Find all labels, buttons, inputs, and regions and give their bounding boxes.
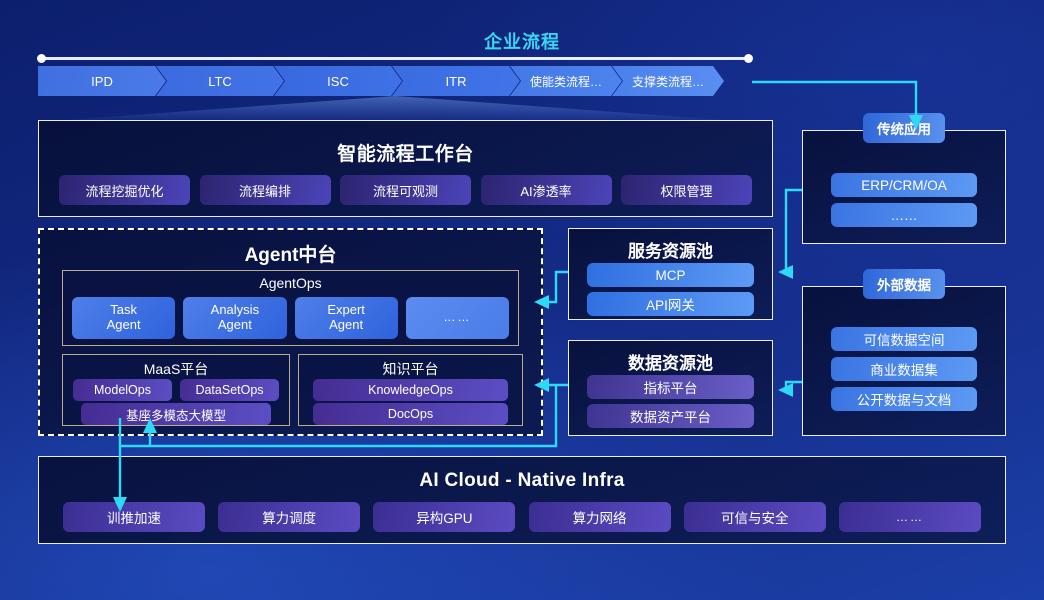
process-step-isc[interactable]: ISC (274, 66, 402, 96)
service-pool-item-api-gateway[interactable]: API网关 (587, 292, 754, 316)
agent-card-expert-line1: Expert (327, 302, 365, 317)
agentops-box: AgentOps TaskAgent AnalysisAgent ExpertA… (62, 270, 519, 346)
knowledge-platform-box: 知识平台 KnowledgeOps DocOps (298, 354, 523, 426)
maas-row-2: 基座多模态大模型 (81, 403, 271, 425)
process-step-enablement[interactable]: 使能类流程… (510, 66, 622, 96)
infra-title: AI Cloud - Native Infra (39, 470, 1005, 492)
external-data-tab: 外部数据 (863, 269, 945, 299)
knowledge-row-2: DocOps (313, 403, 508, 425)
external-data-item-commercial-dataset[interactable]: 商业数据集 (831, 357, 977, 381)
data-resource-pool-title: 数据资源池 (569, 349, 772, 374)
knowledge-platform-title: 知识平台 (299, 359, 522, 379)
agent-card-analysis-line2: Agent (218, 317, 252, 332)
rail-dot-right (744, 54, 753, 63)
workbench-item-process-mining[interactable]: 流程挖掘优化 (59, 175, 190, 205)
decorative-light-fan (38, 96, 752, 122)
data-pool-item-metrics-platform[interactable]: 指标平台 (587, 375, 754, 399)
connector-external-data-to-data-pool (786, 382, 802, 390)
infra-item-row: 训推加速 算力调度 异构GPU 算力网络 可信与安全 …… (63, 502, 981, 532)
agent-hub-title: Agent中台 (40, 240, 541, 267)
maas-item-datasetops[interactable]: DataSetOps (180, 379, 279, 401)
infra-item-trust-security[interactable]: 可信与安全 (684, 502, 826, 532)
agent-card-more[interactable]: …… (406, 297, 509, 339)
process-rail (38, 57, 752, 60)
agent-card-expert-line2: Agent (329, 317, 363, 332)
external-data-item-public-docs[interactable]: 公开数据与文档 (831, 387, 977, 411)
maas-platform-box: MaaS平台 ModelOps DataSetOps 基座多模态大模型 (62, 354, 290, 426)
connector-service-pool-to-agent-hub (548, 272, 568, 302)
agent-card-expert[interactable]: ExpertAgent (295, 297, 398, 339)
traditional-application-tab: 传统应用 (863, 113, 945, 143)
ai-cloud-native-infra-panel: AI Cloud - Native Infra 训推加速 算力调度 异构GPU … (38, 456, 1006, 544)
rail-dot-left (37, 54, 46, 63)
service-resource-pool-title: 服务资源池 (569, 237, 772, 262)
workbench-title: 智能流程工作台 (39, 139, 772, 166)
process-chevron-bar: IPD LTC ISC ITR 使能类流程… 支撑类流程… (38, 66, 724, 96)
infra-item-more[interactable]: …… (839, 502, 981, 532)
data-resource-pool-panel: 数据资源池 指标平台 数据资产平台 (568, 340, 773, 436)
agent-card-task-line2: Agent (107, 317, 141, 332)
agent-card-task[interactable]: TaskAgent (72, 297, 175, 339)
workbench-item-row: 流程挖掘优化 流程编排 流程可观测 AI渗透率 权限管理 (59, 175, 752, 205)
infra-item-compute-network[interactable]: 算力网络 (529, 502, 671, 532)
infra-item-compute-scheduling[interactable]: 算力调度 (218, 502, 360, 532)
agentops-card-row: TaskAgent AnalysisAgent ExpertAgent …… (72, 297, 509, 339)
process-step-ltc[interactable]: LTC (156, 66, 284, 96)
traditional-app-item-more[interactable]: …… (831, 203, 977, 227)
architecture-diagram: 企业流程 IPD LTC ISC ITR 使能类流程… 支撑类流程… 智能流程工… (0, 0, 1044, 600)
traditional-app-item-erp-crm-oa[interactable]: ERP/CRM/OA (831, 173, 977, 197)
arrow-to-service-pool (778, 265, 793, 279)
process-step-ipd[interactable]: IPD (38, 66, 166, 96)
page-title: 企业流程 (0, 28, 1044, 54)
agent-card-task-line1: Task (110, 302, 137, 317)
agent-card-analysis-line1: Analysis (211, 302, 259, 317)
knowledge-item-knowledgeops[interactable]: KnowledgeOps (313, 379, 508, 401)
workbench-item-process-orchestration[interactable]: 流程编排 (200, 175, 331, 205)
service-resource-pool-panel: 服务资源池 MCP API网关 (568, 228, 773, 320)
process-step-itr[interactable]: ITR (392, 66, 520, 96)
intelligent-process-workbench-panel: 智能流程工作台 流程挖掘优化 流程编排 流程可观测 AI渗透率 权限管理 (38, 120, 773, 217)
knowledge-row-1: KnowledgeOps (313, 379, 508, 401)
agentops-title: AgentOps (63, 275, 518, 291)
maas-platform-title: MaaS平台 (63, 359, 289, 379)
connector-traditional-app-to-service-pool (786, 190, 802, 272)
knowledge-item-docops[interactable]: DocOps (313, 403, 508, 425)
maas-item-foundation-model[interactable]: 基座多模态大模型 (81, 403, 271, 425)
agent-hub-panel: Agent中台 AgentOps TaskAgent AnalysisAgent… (38, 228, 543, 436)
workbench-item-permission-management[interactable]: 权限管理 (621, 175, 752, 205)
external-data-panel: 外部数据 可信数据空间 商业数据集 公开数据与文档 (802, 286, 1006, 436)
workbench-item-ai-penetration[interactable]: AI渗透率 (481, 175, 612, 205)
process-step-support[interactable]: 支撑类流程… (612, 66, 724, 96)
service-pool-item-mcp[interactable]: MCP (587, 263, 754, 287)
external-data-item-trusted-space[interactable]: 可信数据空间 (831, 327, 977, 351)
maas-row-1: ModelOps DataSetOps (73, 379, 279, 401)
infra-item-heterogeneous-gpu[interactable]: 异构GPU (373, 502, 515, 532)
agent-card-analysis[interactable]: AnalysisAgent (183, 297, 286, 339)
workbench-item-process-observability[interactable]: 流程可观测 (340, 175, 471, 205)
data-pool-item-data-asset-platform[interactable]: 数据资产平台 (587, 404, 754, 428)
traditional-application-panel: 传统应用 ERP/CRM/OA …… (802, 130, 1006, 244)
arrow-to-data-pool (778, 383, 793, 397)
maas-item-modelops[interactable]: ModelOps (73, 379, 172, 401)
infra-item-training-acceleration[interactable]: 训推加速 (63, 502, 205, 532)
